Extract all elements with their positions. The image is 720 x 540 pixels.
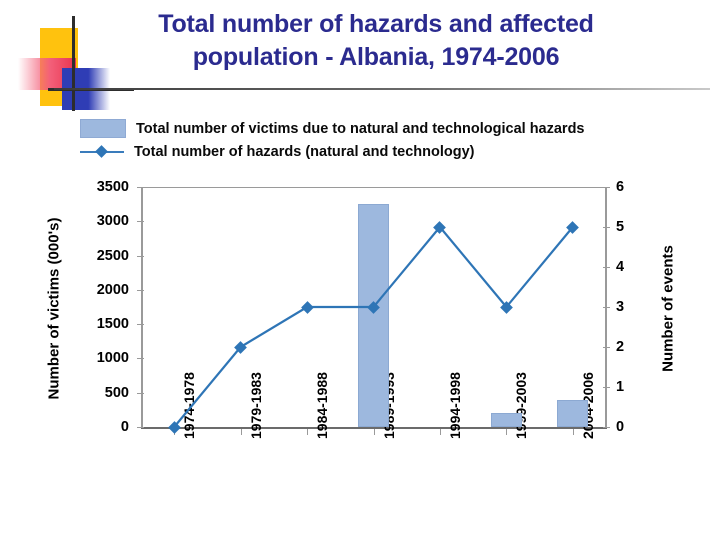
- line-series: [0, 0, 720, 540]
- chart-figure: Number of victims (000's) Number of even…: [0, 0, 720, 540]
- line-path: [174, 227, 573, 427]
